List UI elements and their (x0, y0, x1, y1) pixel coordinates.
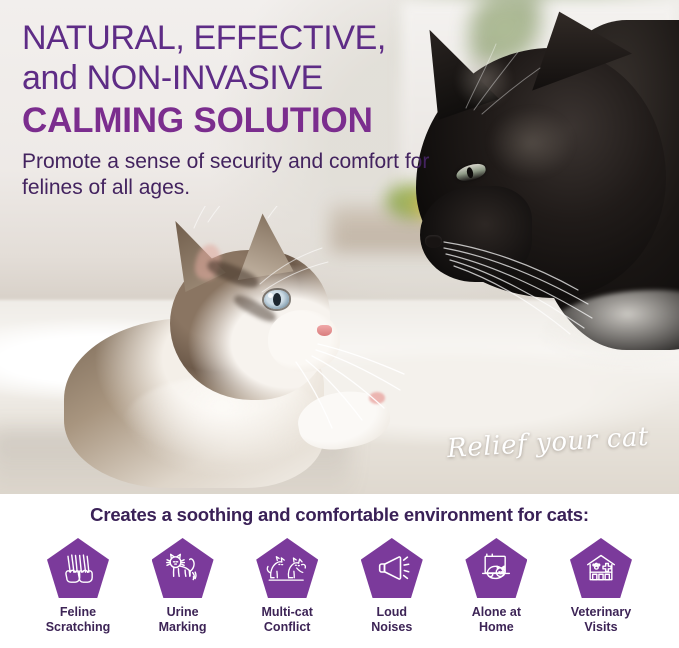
benefit-badge (465, 538, 527, 598)
benefit-badge (570, 538, 632, 598)
benefit-label: Loud Noises (371, 605, 412, 636)
megaphone-sound-icon (372, 548, 412, 588)
benefit-item-multi-cat-conflict[interactable]: Multi-cat Conflict (235, 538, 339, 636)
headline-line-2: and NON-INVASIVE (22, 58, 452, 98)
benefit-item-feline-scratching[interactable]: Feline Scratching (26, 538, 130, 636)
cat-at-window-icon (476, 548, 516, 588)
product-infographic-poster: NATURAL, EFFECTIVE, and NON-INVASIVE CAL… (0, 0, 679, 648)
benefit-badge (152, 538, 214, 598)
benefit-label: Multi-cat Conflict (261, 605, 312, 636)
benefit-item-urine-marking[interactable]: Urine Marking (131, 538, 235, 636)
vet-clinic-icon (581, 548, 621, 588)
benefit-badge (361, 538, 423, 598)
cat-spraying-icon (163, 548, 203, 588)
headline-line-1: NATURAL, EFFECTIVE, (22, 18, 452, 58)
benefits-title: Creates a soothing and comfortable envir… (0, 504, 679, 526)
benefit-label: Alone at Home (472, 605, 521, 636)
benefit-label: Feline Scratching (46, 605, 111, 636)
benefit-label: Urine Marking (159, 605, 207, 636)
benefit-label: Veterinary Visits (571, 605, 631, 636)
tabby-kitten (82, 206, 412, 494)
benefit-item-alone-at-home[interactable]: Alone at Home (444, 538, 548, 636)
headline-block: NATURAL, EFFECTIVE, and NON-INVASIVE CAL… (22, 18, 452, 201)
headline-line-3: CALMING SOLUTION (22, 100, 452, 142)
hero-photo-section: NATURAL, EFFECTIVE, and NON-INVASIVE CAL… (0, 0, 679, 494)
benefit-badge (47, 538, 109, 598)
two-cats-conflict-icon (266, 548, 308, 588)
benefit-badge (256, 538, 318, 598)
benefit-item-loud-noises[interactable]: Loud Noises (340, 538, 444, 636)
kitten-whiskers (82, 206, 412, 494)
sub-headline: Promote a sense of security and comfort … (22, 149, 452, 201)
cat-paws-scratching-icon (58, 548, 98, 588)
benefits-icon-row: Feline Scratching (0, 526, 679, 636)
benefit-item-veterinary-visits[interactable]: Veterinary Visits (549, 538, 653, 636)
benefits-section: Creates a soothing and comfortable envir… (0, 494, 679, 648)
